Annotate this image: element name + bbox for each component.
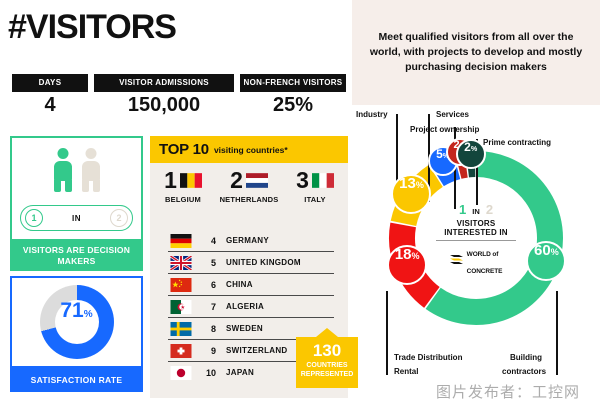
podium-item-1: 1 BELGIUM: [152, 169, 214, 204]
center-line-interested: INTERESTED IN: [430, 228, 522, 237]
person-icon-beige: [80, 148, 102, 192]
center-line-visitors: VISITORS: [430, 219, 522, 228]
list-country-name: UNITED KINGDOM: [226, 258, 301, 267]
satisfaction-value: 71: [60, 300, 83, 321]
decision-makers-footer: VISITORS ARE DECISION MAKERS: [10, 241, 143, 271]
stat-non-french-visitors-value: 25%: [240, 95, 346, 115]
list-rank: 7: [194, 302, 216, 312]
podium-rank-1: 1: [164, 169, 177, 192]
logo-line1: WORLD of: [467, 251, 499, 258]
visitor-activity-donut-chart: Industry Services Project ownership Prim…: [352, 105, 600, 408]
page-title: #VISITORS: [8, 10, 176, 44]
watermark-text: 图片发布者：工控网: [436, 381, 580, 402]
infographic-root: #VISITORS DAYS 4 VISITOR ADMISSIONS 150,…: [0, 0, 600, 408]
podium-item-2: 2 NETHERLANDS: [218, 169, 280, 204]
satisfaction-donut-chart: 71 %: [40, 285, 114, 359]
ratio-connector: IN: [72, 214, 81, 223]
top10-header: TOP 10 visiting countries*: [150, 136, 348, 163]
list-rank: 6: [194, 280, 216, 290]
stat-visitor-admissions-caption: VISITOR ADMISSIONS: [94, 74, 234, 92]
leader-line-trade-distribution: [386, 291, 388, 375]
ratio-denominator: 2: [110, 209, 128, 227]
list-rank: 8: [194, 324, 216, 334]
label-trade-distribution: Trade Distribution: [394, 353, 462, 362]
podium-item-3: 3 ITALY: [284, 169, 346, 204]
china-flag-icon: [168, 278, 194, 292]
list-rank: 9: [194, 346, 216, 356]
top10-header-title: TOP 10: [159, 141, 209, 158]
label-rental: Rental: [394, 367, 418, 376]
ratio-pill: 1 IN 2: [20, 205, 133, 231]
stat-non-french-visitors: NON-FRENCH VISITORS 25%: [240, 74, 346, 115]
right-panel-headline-box: Meet qualified visitors from all over th…: [352, 0, 600, 105]
countries-label-line2: REPRESENTED: [296, 370, 358, 379]
ratio-numerator: 1: [25, 209, 43, 227]
countries-count: 130: [296, 342, 358, 359]
podium-rank-3: 3: [296, 169, 309, 192]
stat-non-french-visitors-caption: NON-FRENCH VISITORS: [240, 74, 346, 92]
label-project-ownership: Project ownership: [410, 125, 479, 134]
switzerland-flag-icon: [168, 344, 194, 358]
segment-badge-building-contractors: 60%: [526, 241, 566, 281]
stat-days: DAYS 4: [12, 74, 88, 115]
person-icon-green: [52, 148, 74, 192]
list-item: 6 CHINA: [168, 274, 334, 296]
stat-visitor-admissions-value: 150,000: [94, 95, 234, 115]
list-rank: 10: [194, 368, 216, 378]
label-industry: Industry: [356, 110, 388, 119]
satisfaction-card: 71 %: [10, 276, 143, 368]
list-item: 5 UNITED KINGDOM: [168, 252, 334, 274]
right-panel: Meet qualified visitors from all over th…: [352, 0, 600, 408]
leader-line-building-contractors: [556, 291, 558, 375]
netherlands-flag-icon: [246, 173, 268, 188]
segment-badge-prime-contracting: 2%: [456, 139, 486, 169]
label-building: Building: [510, 353, 542, 362]
list-country-name: ALGERIA: [226, 302, 264, 311]
label-services: Services: [436, 110, 469, 119]
sweden-flag-icon: [168, 322, 194, 336]
list-rank: 5: [194, 258, 216, 268]
right-panel-headline: Meet qualified visitors from all over th…: [364, 30, 588, 76]
podium-name-1: BELGIUM: [165, 195, 201, 204]
concrete-chevron-icon: [450, 254, 465, 267]
satisfaction-footer: SATISFACTION RATE: [10, 368, 143, 392]
center-ratio-numerator: 1: [459, 202, 466, 217]
stat-visitor-admissions: VISITOR ADMISSIONS 150,000: [94, 74, 234, 115]
list-country-name: JAPAN: [226, 368, 254, 377]
satisfaction-donut-center: 71 %: [55, 300, 99, 344]
stat-days-value: 4: [12, 95, 88, 115]
stat-days-caption: DAYS: [12, 74, 88, 92]
label-prime-contracting: Prime contracting: [483, 138, 551, 147]
stat-bar-group: DAYS 4 VISITOR ADMISSIONS 150,000 NON-FR…: [12, 74, 346, 122]
top10-header-subtitle: visiting countries*: [214, 145, 288, 155]
countries-label-line1: COUNTRIES: [296, 361, 358, 370]
people-pictogram-group: [12, 146, 141, 192]
list-country-name: SWEDEN: [226, 324, 263, 333]
list-country-name: CHINA: [226, 280, 253, 289]
list-country-name: GERMANY: [226, 236, 269, 245]
center-ratio-connector: IN: [472, 207, 480, 216]
decision-makers-card: 1 IN 2: [10, 136, 143, 241]
world-of-concrete-logo: WORLD of CONCRETE: [430, 244, 522, 278]
list-rank: 4: [194, 236, 216, 246]
label-contractors: contractors: [502, 367, 546, 376]
algeria-flag-icon: [168, 300, 194, 314]
italy-flag-icon: [312, 173, 334, 188]
podium-name-2: NETHERLANDS: [220, 195, 279, 204]
logo-divider: [436, 240, 516, 241]
logo-line2: CONCRETE: [467, 268, 503, 275]
list-item: 4 GERMANY: [168, 230, 334, 252]
germany-flag-icon: [168, 234, 194, 248]
podium-rank-2: 2: [230, 169, 243, 192]
podium-name-3: ITALY: [304, 195, 325, 204]
countries-represented-callout: 130 COUNTRIES REPRESENTED: [296, 337, 358, 388]
japan-flag-icon: [168, 366, 194, 380]
list-country-name: SWITZERLAND: [226, 346, 288, 355]
satisfaction-percent-sign: %: [84, 309, 93, 320]
center-ratio-denominator: 2: [486, 202, 493, 217]
belgium-flag-icon: [180, 173, 202, 188]
list-item: 7 ALGERIA: [168, 296, 334, 318]
donut-center-content: 1 IN 2 VISITORS INTERESTED IN WORLD of C…: [430, 203, 522, 278]
united-kingdom-flag-icon: [168, 256, 194, 270]
top10-podium: 1 BELGIUM 2: [150, 163, 348, 226]
